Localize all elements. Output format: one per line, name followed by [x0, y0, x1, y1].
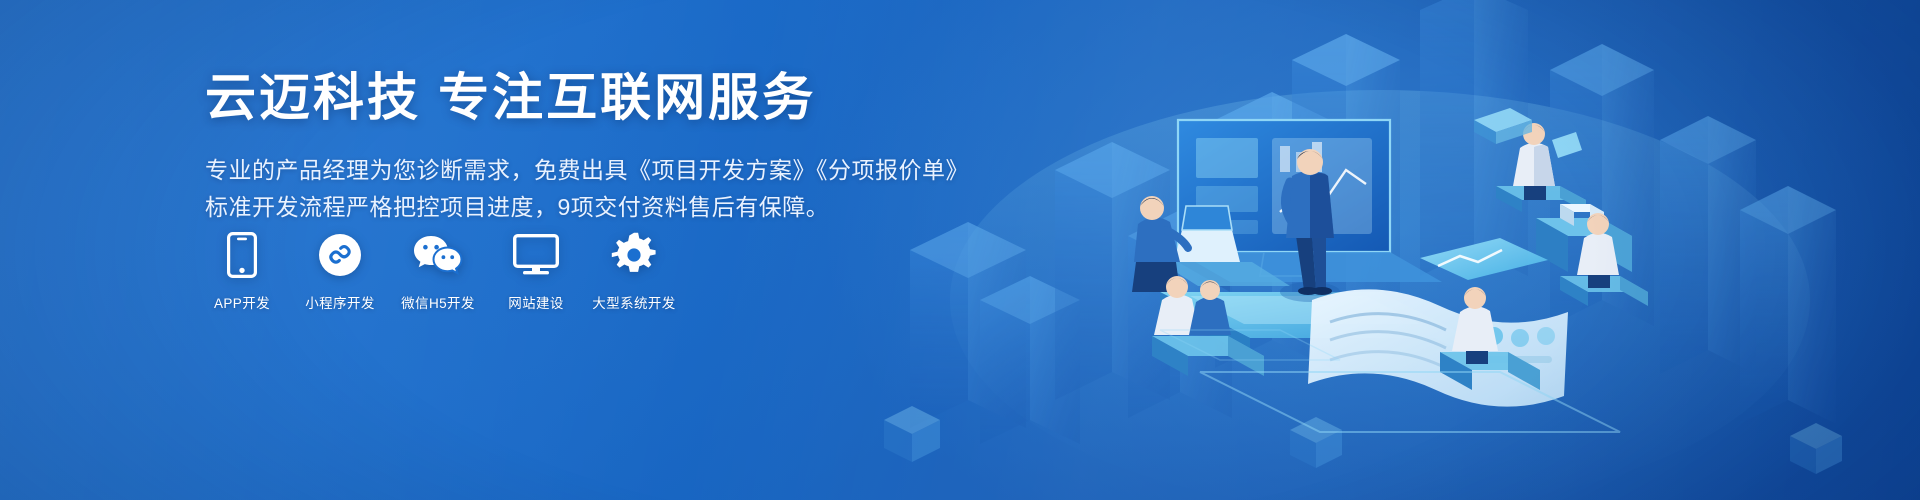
hero-subtitle: 专业的产品经理为您诊断需求，免费出具《项目开发方案》《分项报价单》 标准开发流程… [205, 152, 1105, 227]
gear-icon [611, 232, 657, 278]
hero-banner: 云迈科技 专注互联网服务 专业的产品经理为您诊断需求，免费出具《项目开发方案》《… [0, 0, 1920, 500]
service-label: 微信H5开发 [401, 292, 475, 312]
service-label: 网站建设 [508, 292, 564, 312]
service-label: APP开发 [214, 292, 270, 312]
service-item-website[interactable]: 网站建设 [499, 232, 573, 312]
service-label: 大型系统开发 [592, 292, 675, 312]
page-title: 云迈科技 专注互联网服务 [205, 68, 1105, 128]
hero-copy: 云迈科技 专注互联网服务 专业的产品经理为您诊断需求，免费出具《项目开发方案》《… [205, 68, 1105, 227]
subtitle-line-1: 专业的产品经理为您诊断需求，免费出具《项目开发方案》《分项报价单》 [205, 152, 1105, 189]
subtitle-line-2: 标准开发流程严格把控项目进度，9项交付资料售后有保障。 [205, 189, 1105, 226]
service-item-wechat-h5[interactable]: 微信H5开发 [401, 232, 475, 312]
service-item-large-system[interactable]: 大型系统开发 [597, 232, 671, 312]
mobile-phone-icon [227, 232, 257, 278]
mini-program-icon [318, 232, 362, 278]
service-item-app[interactable]: APP开发 [205, 232, 279, 312]
wechat-icon [413, 232, 463, 278]
service-item-mini-program[interactable]: 小程序开发 [303, 232, 377, 312]
service-label: 小程序开发 [305, 292, 375, 312]
service-list: APP开发 小程序开发 [205, 232, 671, 312]
monitor-icon [513, 232, 559, 278]
